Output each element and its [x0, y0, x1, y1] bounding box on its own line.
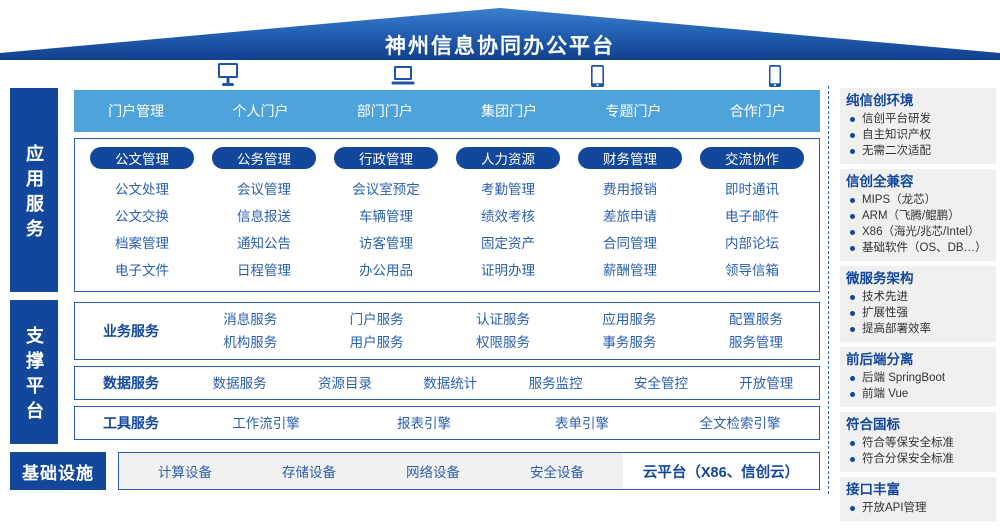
business-item[interactable]: 消息服务: [223, 308, 277, 331]
app-item[interactable]: 通知公告: [237, 230, 291, 257]
feature-card-3: 前后端分离 后端 SpringBoot 前端 Vue: [840, 347, 996, 407]
list-item: 开放API管理: [846, 500, 990, 516]
bullet-icon: [850, 149, 855, 154]
portal-item-2[interactable]: 部门门户: [323, 101, 447, 121]
feature-card-1: 信创全兼容 MIPS（龙芯） ARM（飞腾/鲲鹏） X86（海光/兆芯/Inte…: [840, 169, 996, 261]
infrastructure-item[interactable]: 计算设备: [123, 461, 247, 481]
list-item: 后端 SpringBoot: [846, 370, 990, 386]
feature-card-4: 符合国标 符合等保安全标准 符合分保安全标准: [840, 412, 996, 472]
tool-services-row: 工作流引擎 报表引擎 表单引擎 全文检索引擎: [187, 412, 819, 435]
app-column-5: 交流协作 即时通讯 电子邮件 内部论坛 领导信箱: [691, 147, 813, 285]
data-item[interactable]: 开放管理: [714, 372, 819, 395]
feature-card-title: 接口丰富: [846, 481, 990, 499]
app-item[interactable]: 费用报销: [603, 176, 657, 203]
infrastructure-device-group: 计算设备 存储设备 网络设备 安全设备: [119, 453, 623, 489]
app-item[interactable]: 公文交换: [115, 203, 169, 230]
data-item[interactable]: 数据统计: [398, 372, 503, 395]
app-item[interactable]: 薪酬管理: [603, 257, 657, 284]
application-services-panel: 公文管理 公文处理 公文交换 档案管理 电子文件 公务管理 会议管理 信息报送 …: [74, 138, 820, 292]
app-item[interactable]: 差旅申请: [603, 203, 657, 230]
laptop-icon: [383, 60, 423, 88]
list-item: 扩展性强: [846, 305, 990, 321]
bullet-icon: [850, 246, 855, 251]
business-item[interactable]: 权限服务: [476, 331, 530, 354]
business-item[interactable]: 服务管理: [729, 331, 783, 354]
portal-item-0[interactable]: 门户管理: [74, 101, 198, 121]
app-item[interactable]: 日程管理: [237, 257, 291, 284]
device-icon-row: [80, 60, 820, 88]
tool-item[interactable]: 报表引擎: [345, 412, 503, 435]
tool-item[interactable]: 工作流引擎: [187, 412, 345, 435]
bullet-icon: [850, 230, 855, 235]
business-column-1: 门户服务 用户服务: [313, 308, 439, 354]
tool-item[interactable]: 表单引擎: [503, 412, 661, 435]
bullet-icon: [850, 214, 855, 219]
feature-text: 技术先进: [862, 289, 990, 305]
app-column-title-1[interactable]: 公务管理: [212, 147, 316, 169]
app-item[interactable]: 内部论坛: [725, 230, 779, 257]
feature-text: 自主知识产权: [862, 127, 990, 143]
feature-card-title: 符合国标: [846, 416, 990, 434]
business-item[interactable]: 门户服务: [350, 308, 404, 331]
list-item: 无需二次适配: [846, 143, 990, 159]
bullet-icon: [850, 441, 855, 446]
business-services-panel: 业务服务 消息服务 机构服务 门户服务 用户服务 认证服务 权限服务 应用服务 …: [74, 302, 820, 360]
feature-list: MIPS（龙芯） ARM（飞腾/鲲鹏） X86（海光/兆芯/Intel） 基础软…: [846, 192, 990, 256]
feature-card-title: 前后端分离: [846, 351, 990, 369]
bullet-icon: [850, 327, 855, 332]
tool-services-panel: 工具服务 工作流引擎 报表引擎 表单引擎 全文检索引擎: [74, 406, 820, 440]
feature-text: 扩展性强: [862, 305, 990, 321]
data-item[interactable]: 数据服务: [187, 372, 292, 395]
feature-text: 信创平台研发: [862, 111, 990, 127]
platform-title: 神州信息协同办公平台: [0, 30, 1000, 60]
app-item[interactable]: 绩效考核: [481, 203, 535, 230]
app-item[interactable]: 合同管理: [603, 230, 657, 257]
feature-card-5: 接口丰富 开放API管理: [840, 477, 996, 521]
app-item[interactable]: 会议室预定: [352, 176, 420, 203]
tool-item[interactable]: 全文检索引擎: [661, 412, 819, 435]
app-column-title-3[interactable]: 人力资源: [456, 147, 560, 169]
app-item[interactable]: 办公用品: [359, 257, 413, 284]
feature-list: 后端 SpringBoot 前端 Vue: [846, 370, 990, 402]
feature-text: 开放API管理: [862, 500, 990, 516]
feature-card-title: 纯信创环境: [846, 92, 990, 110]
app-item[interactable]: 会议管理: [237, 176, 291, 203]
feature-list: 开放API管理: [846, 500, 990, 516]
app-column-0: 公文管理 公文处理 公文交换 档案管理 电子文件: [81, 147, 203, 285]
app-item[interactable]: 考勤管理: [481, 176, 535, 203]
list-item: 自主知识产权: [846, 127, 990, 143]
business-column-2: 认证服务 权限服务: [440, 308, 566, 354]
data-services-panel: 数据服务 数据服务 资源目录 数据统计 服务监控 安全管控 开放管理: [74, 366, 820, 400]
app-item[interactable]: 领导信箱: [725, 257, 779, 284]
app-column-3: 人力资源 考勤管理 绩效考核 固定资产 证明办理: [447, 147, 569, 285]
list-item: 基础软件（OS、DB…）: [846, 240, 990, 256]
business-column-4: 配置服务 服务管理: [693, 308, 819, 354]
feature-list: 信创平台研发 自主知识产权 无需二次适配: [846, 111, 990, 159]
rail-label-support-platform: 支撑平台: [10, 300, 58, 444]
list-item: 提高部署效率: [846, 321, 990, 337]
bullet-icon: [850, 506, 855, 511]
app-item[interactable]: 访客管理: [359, 230, 413, 257]
app-column-title-2[interactable]: 行政管理: [334, 147, 438, 169]
list-item: 技术先进: [846, 289, 990, 305]
feature-text: MIPS（龙芯）: [862, 192, 990, 208]
app-column-1: 公务管理 会议管理 信息报送 通知公告 日程管理: [203, 147, 325, 285]
app-column-4: 财务管理 费用报销 差旅申请 合同管理 薪酬管理: [569, 147, 691, 285]
feature-text: 后端 SpringBoot: [862, 370, 990, 386]
business-item[interactable]: 事务服务: [602, 331, 656, 354]
app-item[interactable]: 信息报送: [237, 203, 291, 230]
feature-text: 符合等保安全标准: [862, 435, 990, 451]
list-item: 前端 Vue: [846, 386, 990, 402]
feature-list: 符合等保安全标准 符合分保安全标准: [846, 435, 990, 467]
bullet-icon: [850, 311, 855, 316]
feature-card-title: 微服务架构: [846, 270, 990, 288]
business-column-3: 应用服务 事务服务: [566, 308, 692, 354]
app-column-title-5[interactable]: 交流协作: [700, 147, 804, 169]
app-item[interactable]: 公文处理: [115, 176, 169, 203]
business-item[interactable]: 配置服务: [729, 308, 783, 331]
business-item[interactable]: 应用服务: [602, 308, 656, 331]
platform-banner: 神州信息协同办公平台: [0, 8, 1000, 60]
rail-label-application-services: 应用服务: [10, 88, 58, 292]
bullet-icon: [850, 133, 855, 138]
app-column-title-0[interactable]: 公文管理: [90, 147, 194, 169]
app-item[interactable]: 即时通讯: [725, 176, 779, 203]
phone-icon: [755, 60, 795, 88]
feature-sidebar: 纯信创环境 信创平台研发 自主知识产权 无需二次适配 信创全兼容 MIPS（龙芯…: [840, 88, 996, 526]
list-item: 信创平台研发: [846, 111, 990, 127]
app-column-title-4[interactable]: 财务管理: [578, 147, 682, 169]
tool-services-label: 工具服务: [75, 413, 187, 433]
business-item[interactable]: 认证服务: [476, 308, 530, 331]
feature-text: ARM（飞腾/鲲鹏）: [862, 208, 990, 224]
feature-text: 基础软件（OS、DB…）: [862, 240, 990, 256]
business-services-grid: 消息服务 机构服务 门户服务 用户服务 认证服务 权限服务 应用服务 事务服务 …: [187, 308, 819, 354]
business-item[interactable]: 机构服务: [223, 331, 277, 354]
portal-item-5[interactable]: 合作门户: [696, 101, 820, 121]
business-item[interactable]: 用户服务: [350, 331, 404, 354]
feature-card-title: 信创全兼容: [846, 173, 990, 191]
infrastructure-item[interactable]: 网络设备: [371, 461, 495, 481]
app-item[interactable]: 档案管理: [115, 230, 169, 257]
data-services-label: 数据服务: [75, 373, 187, 393]
rail-label-infrastructure: 基础设施: [10, 452, 106, 490]
list-item: MIPS（龙芯）: [846, 192, 990, 208]
bullet-icon: [850, 295, 855, 300]
tablet-icon: [577, 60, 617, 88]
feature-text: X86（海光/兆芯/Intel）: [862, 224, 990, 240]
list-item: 符合分保安全标准: [846, 451, 990, 467]
feature-text: 提高部署效率: [862, 321, 990, 337]
section-divider: [828, 86, 829, 494]
bullet-icon: [850, 198, 855, 203]
app-item[interactable]: 车辆管理: [359, 203, 413, 230]
portal-bar: 门户管理 个人门户 部门门户 集团门户 专题门户 合作门户: [74, 90, 820, 132]
feature-card-0: 纯信创环境 信创平台研发 自主知识产权 无需二次适配: [840, 88, 996, 164]
portal-item-3[interactable]: 集团门户: [447, 101, 571, 121]
list-item: 符合等保安全标准: [846, 435, 990, 451]
portal-item-1[interactable]: 个人门户: [198, 101, 322, 121]
list-item: X86（海光/兆芯/Intel）: [846, 224, 990, 240]
app-item[interactable]: 证明办理: [481, 257, 535, 284]
business-services-label: 业务服务: [75, 321, 187, 341]
architecture-diagram: 神州信息协同办公平台: [0, 0, 1000, 500]
business-column-0: 消息服务 机构服务: [187, 308, 313, 354]
bullet-icon: [850, 376, 855, 381]
bullet-icon: [850, 457, 855, 462]
infrastructure-item[interactable]: 安全设备: [495, 461, 619, 481]
data-services-row: 数据服务 资源目录 数据统计 服务监控 安全管控 开放管理: [187, 372, 819, 395]
feature-text: 前端 Vue: [862, 386, 990, 402]
infrastructure-item[interactable]: 存储设备: [247, 461, 371, 481]
feature-text: 无需二次适配: [862, 143, 990, 159]
feature-text: 符合分保安全标准: [862, 451, 990, 467]
data-item[interactable]: 服务监控: [503, 372, 608, 395]
app-item[interactable]: 电子邮件: [725, 203, 779, 230]
feature-card-2: 微服务架构 技术先进 扩展性强 提高部署效率: [840, 266, 996, 342]
bullet-icon: [850, 392, 855, 397]
infrastructure-panel: 计算设备 存储设备 网络设备 安全设备 云平台（X86、信创云）: [118, 452, 820, 490]
data-item[interactable]: 资源目录: [292, 372, 397, 395]
portal-item-4[interactable]: 专题门户: [571, 101, 695, 121]
app-column-2: 行政管理 会议室预定 车辆管理 访客管理 办公用品: [325, 147, 447, 285]
infrastructure-cloud-platform[interactable]: 云平台（X86、信创云）: [623, 453, 819, 489]
app-item[interactable]: 固定资产: [481, 230, 535, 257]
feature-list: 技术先进 扩展性强 提高部署效率: [846, 289, 990, 337]
desktop-monitor-icon: [208, 60, 248, 88]
app-item[interactable]: 电子文件: [115, 257, 169, 284]
bullet-icon: [850, 117, 855, 122]
data-item[interactable]: 安全管控: [608, 372, 713, 395]
list-item: ARM（飞腾/鲲鹏）: [846, 208, 990, 224]
